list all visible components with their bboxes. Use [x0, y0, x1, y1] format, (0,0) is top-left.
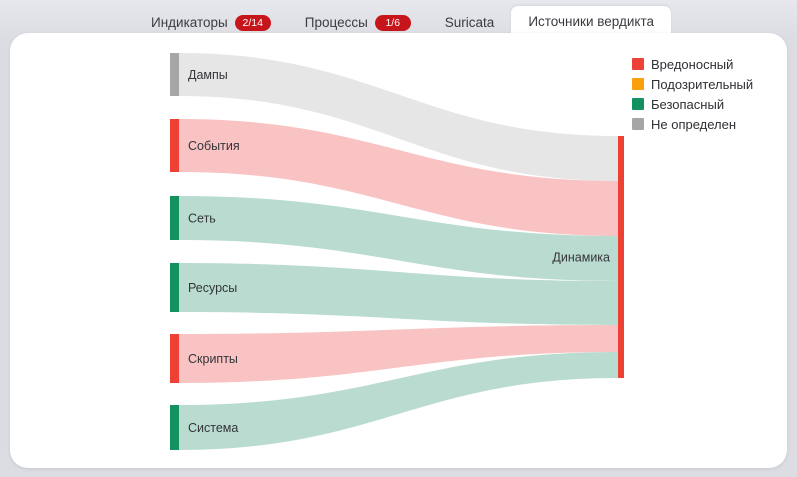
sankey-node[interactable] — [170, 119, 179, 172]
sankey-node-label: Ресурсы — [188, 281, 237, 295]
legend-swatch-suspicious — [632, 78, 644, 90]
legend-item-safe[interactable]: Безопасный — [632, 95, 753, 113]
legend-label-suspicious: Подозрительный — [651, 78, 753, 91]
sankey-node[interactable] — [170, 53, 179, 96]
sankey-node-label: Скрипты — [188, 352, 238, 366]
legend-label-malicious: Вредоносный — [651, 58, 733, 71]
legend-label-undefined: Не определен — [651, 118, 736, 131]
sankey-node-label: Сеть — [188, 212, 216, 226]
sankey-node[interactable] — [170, 196, 179, 240]
sankey-target-node[interactable] — [618, 136, 624, 378]
sankey-node[interactable] — [170, 263, 179, 312]
legend-label-safe: Безопасный — [651, 98, 724, 111]
sankey-node-label: Дампы — [188, 68, 228, 82]
sankey-node-label: События — [188, 139, 240, 153]
legend-item-malicious[interactable]: Вредоносный — [632, 55, 753, 73]
legend-item-undefined[interactable]: Не определен — [632, 115, 753, 133]
verdict-legend: Вредоносный Подозрительный Безопасный Не… — [632, 55, 753, 133]
sankey-node-label: Система — [188, 421, 238, 435]
sankey-target-node-label: Динамика — [552, 251, 610, 265]
legend-item-suspicious[interactable]: Подозрительный — [632, 75, 753, 93]
sankey-node[interactable] — [170, 334, 179, 383]
legend-swatch-safe — [632, 98, 644, 110]
sankey-node[interactable] — [170, 405, 179, 450]
verdict-sources-view: Индикаторы 2/14 Процессы 1/6 Suricata Ис… — [0, 0, 797, 477]
legend-swatch-malicious — [632, 58, 644, 70]
legend-swatch-undefined — [632, 118, 644, 130]
